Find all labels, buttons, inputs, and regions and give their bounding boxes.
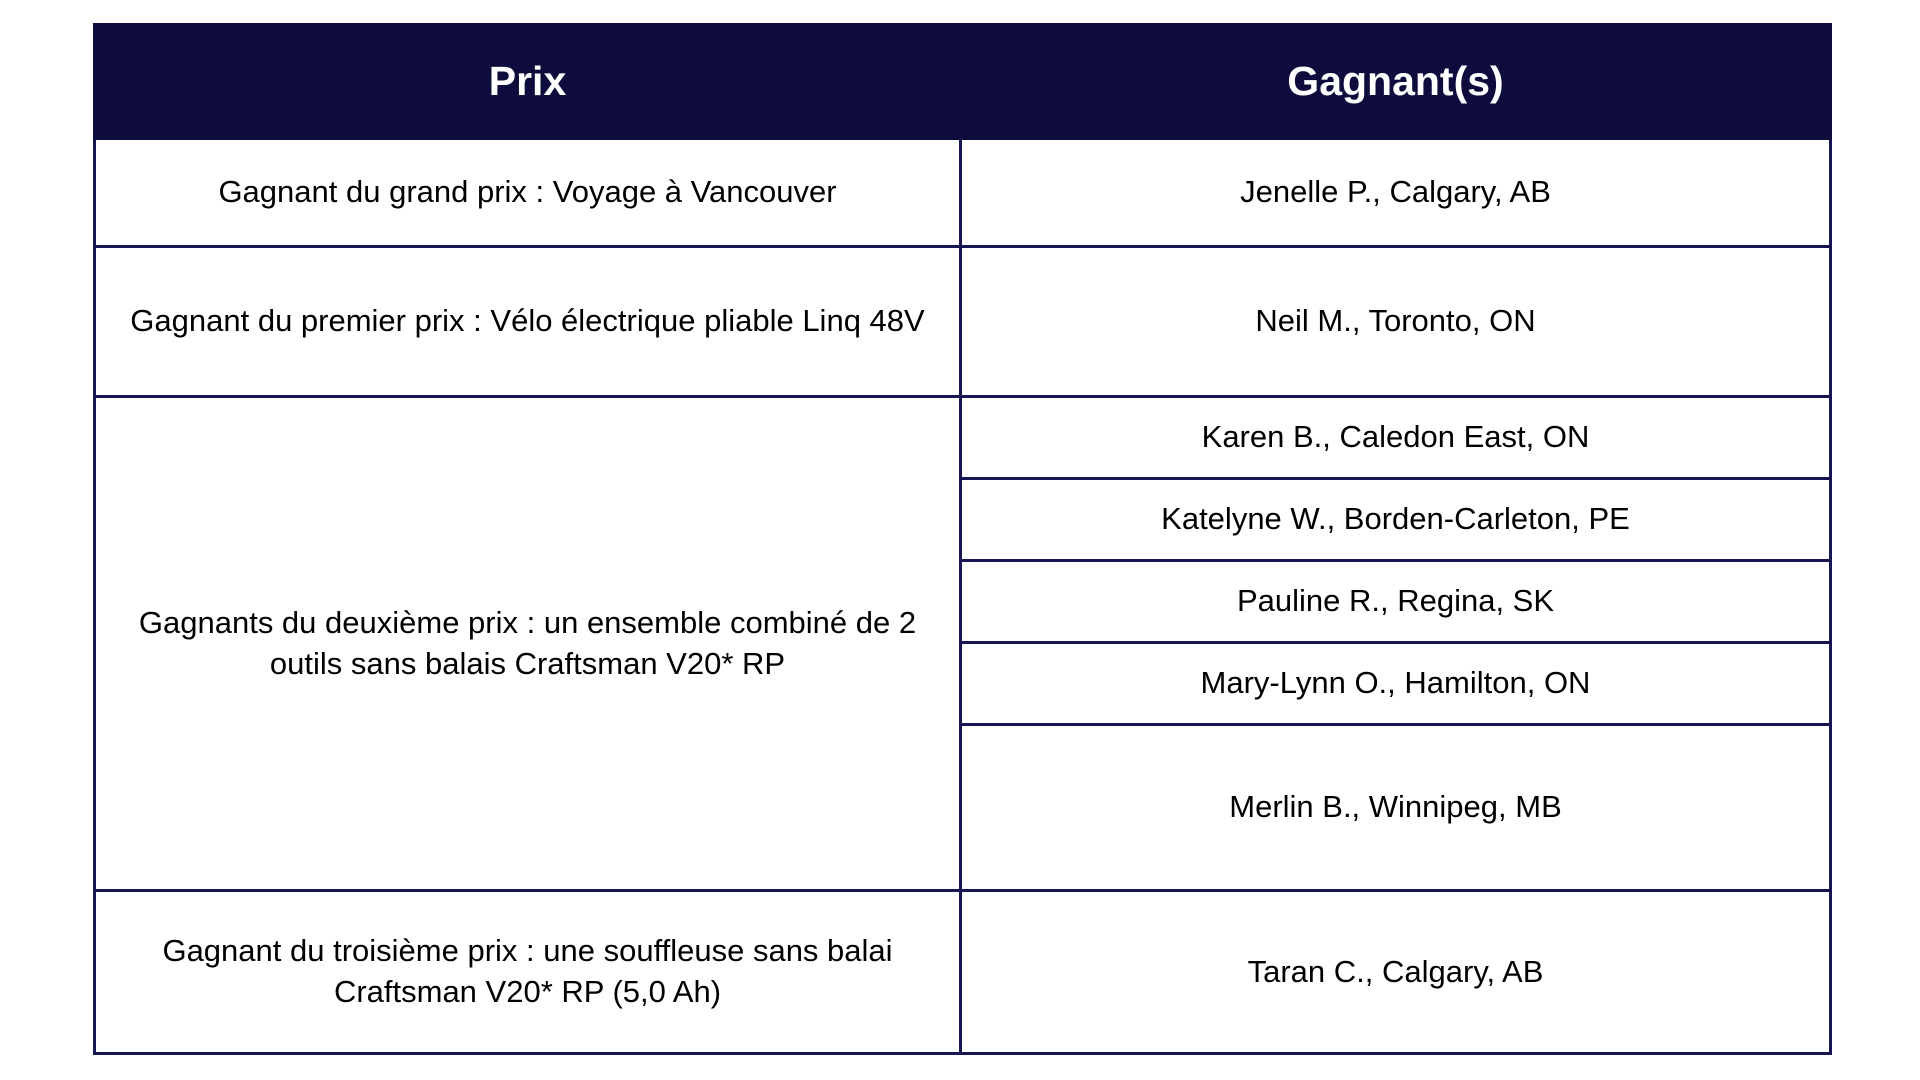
page-root: Prix Gagnant(s) Gagnant du grand prix : … [0,0,1920,1080]
table-row: Gagnant du grand prix : Voyage à Vancouv… [93,140,1832,248]
prize-cell: Gagnant du troisième prix : une souffleu… [93,892,959,1055]
prize-cell-merged: Gagnants du deuxième prix : un ensemble … [93,398,959,892]
winner-cell: Taran C., Calgary, AB [959,892,1832,1055]
column-header-prize: Prix [93,23,959,140]
table-row: Gagnant du troisième prix : une souffleu… [93,892,1832,1055]
winner-cell: Karen B., Caledon East, ON [959,398,1832,480]
table-row: Gagnants du deuxième prix : un ensemble … [93,398,1832,480]
prize-cell: Gagnant du grand prix : Voyage à Vancouv… [93,140,959,248]
winner-cell: Jenelle P., Calgary, AB [959,140,1832,248]
winner-cell: Neil M., Toronto, ON [959,248,1832,398]
header-row: Prix Gagnant(s) [93,23,1832,140]
prize-winners-table: Prix Gagnant(s) Gagnant du grand prix : … [93,23,1832,1055]
winner-cell: Merlin B., Winnipeg, MB [959,726,1832,892]
table-body: Gagnant du grand prix : Voyage à Vancouv… [93,140,1832,1055]
winner-cell: Mary-Lynn O., Hamilton, ON [959,644,1832,726]
table-header: Prix Gagnant(s) [93,23,1832,140]
winner-cell: Pauline R., Regina, SK [959,562,1832,644]
winner-cell: Katelyne W., Borden-Carleton, PE [959,480,1832,562]
prize-cell: Gagnant du premier prix : Vélo électriqu… [93,248,959,398]
table-row: Gagnant du premier prix : Vélo électriqu… [93,248,1832,398]
column-header-winner: Gagnant(s) [959,23,1832,140]
